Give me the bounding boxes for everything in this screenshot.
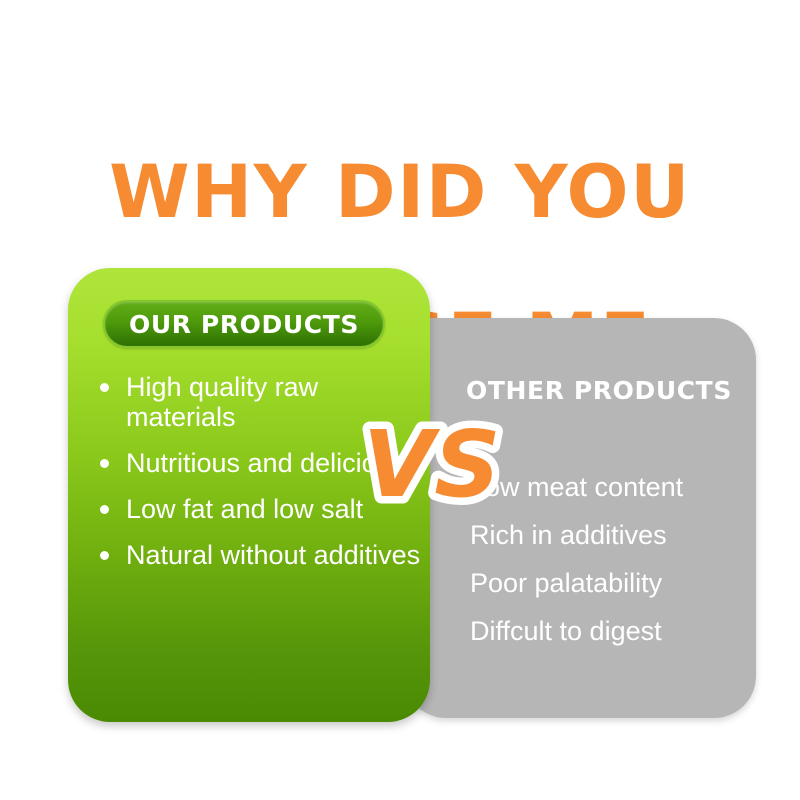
list-item: Low fat and low salt xyxy=(90,494,430,524)
our-products-list: High quality raw materials Nutritious an… xyxy=(90,372,430,570)
list-item: Nutritious and delicious xyxy=(90,448,430,478)
bullet-dot-icon xyxy=(100,383,109,392)
other-products-panel: OTHER PRODUCTS Low meat content Rich in … xyxy=(404,318,756,718)
list-item: Rich in additives xyxy=(470,511,756,559)
infographic-canvas: WHY DID YOU CHOOSE ME OTHER PRODUCTS Low… xyxy=(0,0,800,800)
our-products-badge-label: OUR PRODUCTS xyxy=(129,312,359,337)
list-item-label: High quality raw materials xyxy=(126,372,318,432)
bullet-dot-icon xyxy=(100,459,109,468)
other-products-title: OTHER PRODUCTS xyxy=(404,376,756,405)
page-title-line-1: WHY DID YOU xyxy=(0,156,800,230)
bullet-dot-icon xyxy=(100,551,109,560)
list-item-label: Natural without additives xyxy=(126,540,420,570)
list-item: Diffcult to digest xyxy=(470,607,756,655)
list-item: High quality raw materials xyxy=(90,372,430,432)
our-products-badge: OUR PRODUCTS xyxy=(103,300,385,348)
other-products-list: Low meat content Rich in additives Poor … xyxy=(470,463,756,655)
our-products-panel: OUR PRODUCTS High quality raw materials … xyxy=(68,268,430,722)
bullet-dot-icon xyxy=(100,505,109,514)
list-item-label: Nutritious and delicious xyxy=(126,448,405,478)
list-item: Poor palatability xyxy=(470,559,756,607)
list-item: Low meat content xyxy=(470,463,756,511)
list-item: Natural without additives xyxy=(90,540,430,570)
list-item-label: Low fat and low salt xyxy=(126,494,363,524)
